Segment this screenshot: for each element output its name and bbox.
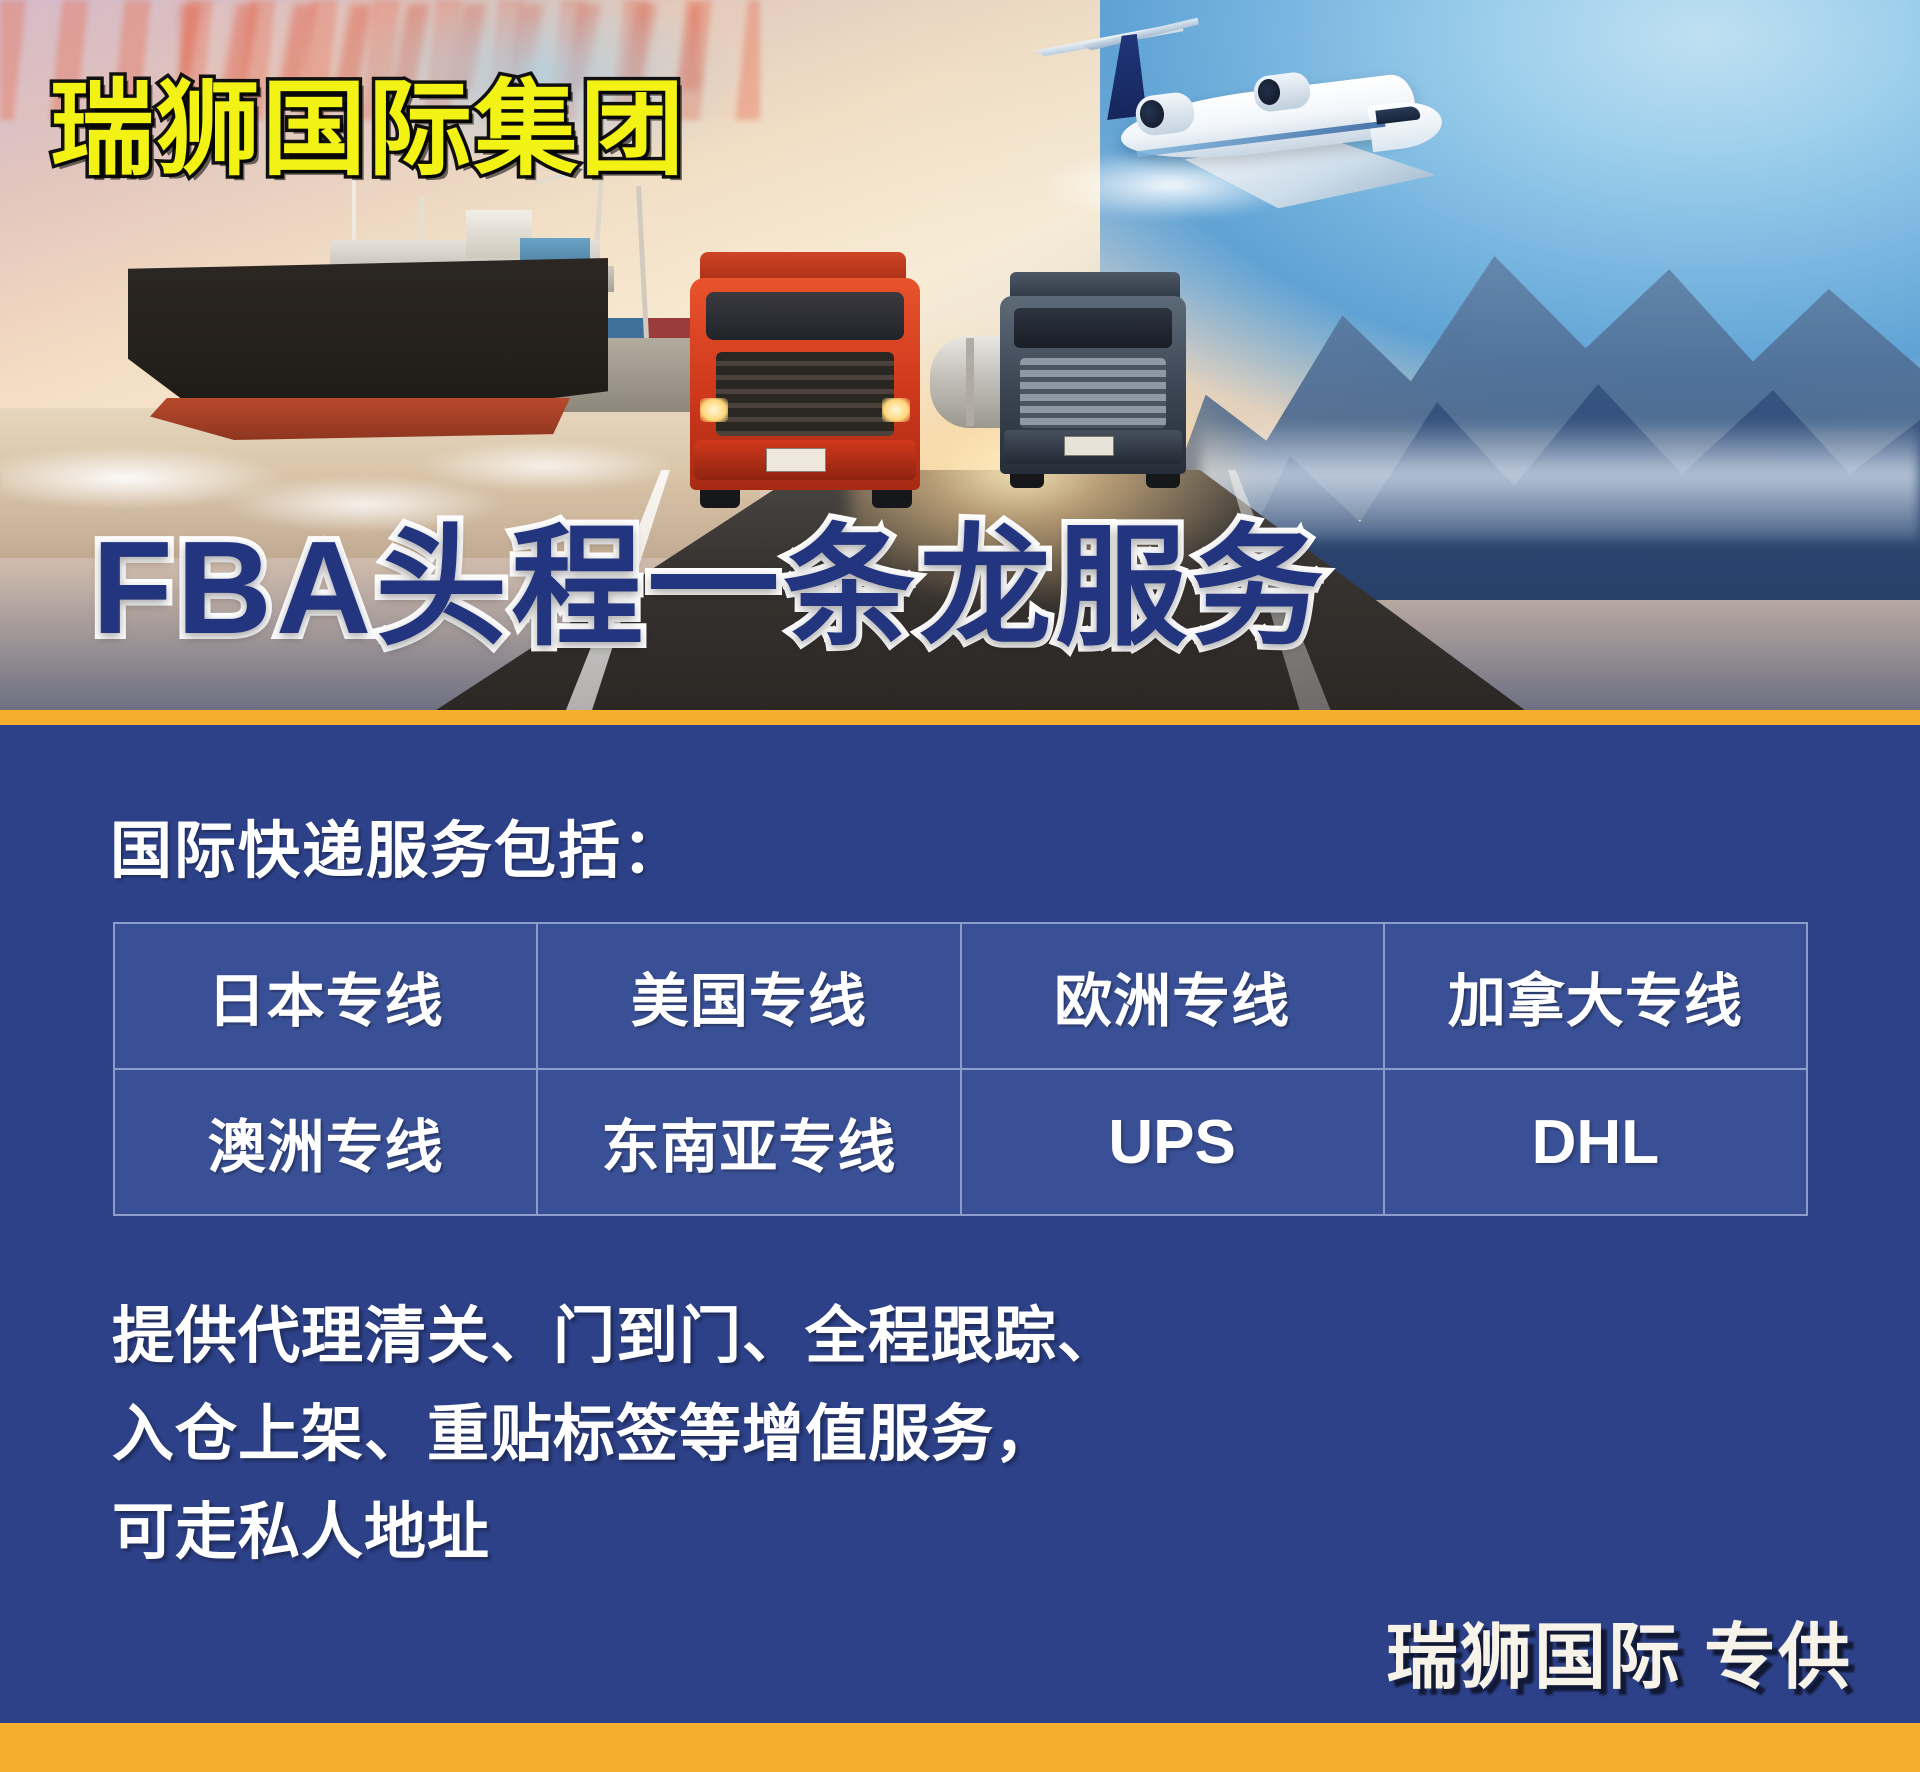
red-truck-headlight-right-icon (882, 398, 910, 422)
silver-truck-grille-icon (1020, 358, 1166, 428)
red-truck-grille-icon (716, 352, 894, 436)
red-truck-headlight-left-icon (700, 398, 728, 422)
brand-title: 瑞狮国际集团 (50, 78, 686, 182)
poster-root: 瑞狮国际集团 FBA头程一条龙服务 国际快递服务包括： 日本专线 美国专线 欧洲… (0, 0, 1920, 1772)
panel-heading: 国际快递服务包括： (110, 800, 686, 890)
divider-bar-bottom (0, 1723, 1920, 1772)
service-cell-dhl[interactable]: DHL (1384, 1069, 1807, 1215)
table-row: 澳洲专线 东南亚专线 UPS DHL (114, 1069, 1807, 1215)
service-cell-usa[interactable]: 美国专线 (537, 923, 960, 1069)
service-cell-ups[interactable]: UPS (961, 1069, 1384, 1215)
value-added-services-text: 提供代理清关、门到门、全程跟踪、 入仓上架、重贴标签等增值服务， 可走私人地址 (112, 1288, 1120, 1582)
red-truck-windshield-icon (706, 292, 904, 340)
service-cell-southeast-asia[interactable]: 东南亚专线 (537, 1069, 960, 1215)
table-row: 日本专线 美国专线 欧洲专线 加拿大专线 (114, 923, 1807, 1069)
dock-container-2-icon (648, 318, 694, 338)
service-cell-europe[interactable]: 欧洲专线 (961, 923, 1384, 1069)
brand-signature: 瑞狮国际 专供 (1386, 1598, 1852, 1703)
ship-hull-waterline-icon (150, 398, 570, 440)
red-truck-plate-icon (766, 448, 826, 472)
service-cell-canada[interactable]: 加拿大专线 (1384, 923, 1807, 1069)
business-jet-icon (1040, 28, 1440, 218)
silver-truck-windshield-icon (1014, 308, 1172, 348)
tanker-band (966, 338, 974, 426)
hero-headline: FBA头程一条龙服务 (92, 522, 1327, 654)
service-cell-japan[interactable]: 日本专线 (114, 923, 537, 1069)
body-line-2: 入仓上架、重贴标签等增值服务， (112, 1386, 1120, 1484)
divider-bar-top (0, 710, 1920, 725)
service-lines-table: 日本专线 美国专线 欧洲专线 加拿大专线 澳洲专线 东南亚专线 UPS DHL (113, 922, 1808, 1216)
body-line-3: 可走私人地址 (112, 1484, 1120, 1582)
silver-truck-plate-icon (1064, 436, 1114, 456)
body-line-1: 提供代理清关、门到门、全程跟踪、 (112, 1288, 1120, 1386)
service-cell-australia[interactable]: 澳洲专线 (114, 1069, 537, 1215)
